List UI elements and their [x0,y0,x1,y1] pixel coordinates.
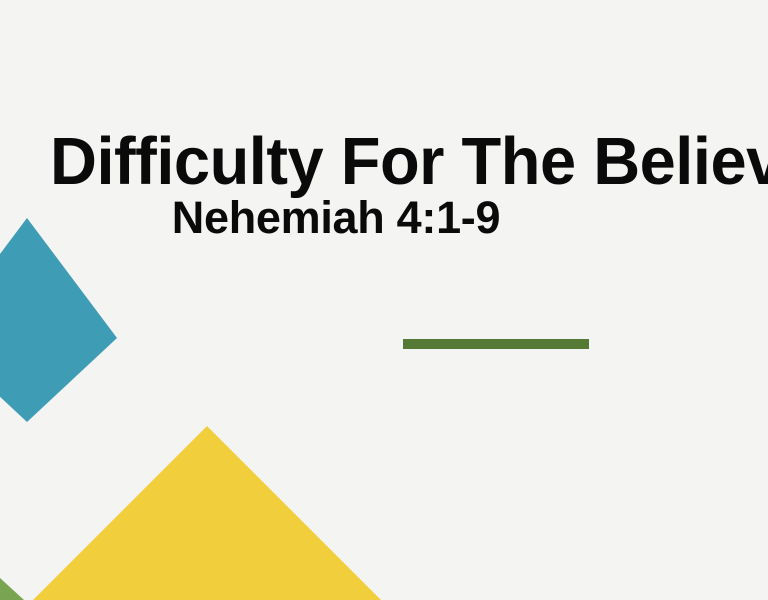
title-slide: Difficulty For The Believer Nehemiah 4:1… [0,0,768,600]
scripture-reference: Nehemiah 4:1-9 [0,192,720,244]
teal-diamond-shape [0,218,117,422]
decorative-shapes-layer [0,0,768,600]
green-divider-bar [403,339,589,349]
yellow-diamond-shape [33,426,381,600]
green-corner-triangle-shape [0,578,24,600]
page-title: Difficulty For The Believer [50,124,768,200]
